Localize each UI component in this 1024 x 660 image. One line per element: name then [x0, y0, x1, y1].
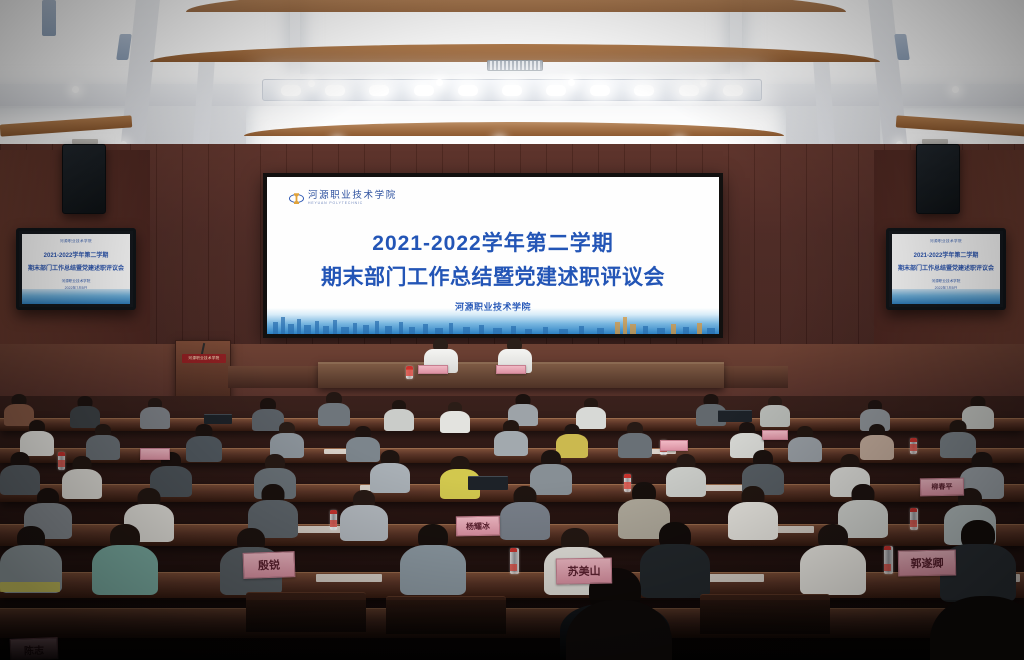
logo-chinese-name: 河源职业技术学院	[308, 191, 397, 201]
right-monitor-title1: 2021-2022学年第二学期	[914, 250, 979, 259]
attendee	[618, 422, 652, 456]
logo-english-name: HEYUAN POLYTECHNIC	[308, 202, 397, 205]
water-bottle	[884, 546, 893, 574]
placard-guo-ls: 郭遂卿	[898, 549, 956, 576]
placard-right-mid: 柳春平	[920, 478, 964, 497]
ceiling	[0, 0, 1024, 150]
left-monitor-org: 河源职业技术学院	[62, 279, 91, 284]
left-monitor-cityscape	[22, 289, 130, 304]
emblem-icon	[289, 192, 304, 204]
attendee	[92, 524, 158, 590]
attendee	[494, 420, 528, 454]
institution-logo: 河源职业技术学院 HEYUAN POLYTECHNIC	[289, 191, 397, 205]
water-bottle	[330, 510, 337, 530]
left-monitor-title1: 2021-2022学年第二学期	[44, 250, 109, 259]
placard-distant-a	[140, 448, 170, 460]
attendee	[666, 454, 706, 494]
attendee	[0, 452, 40, 492]
attendee	[860, 424, 894, 458]
attendee	[440, 402, 470, 432]
water-bottle	[58, 452, 65, 470]
placard-distant-c	[762, 430, 788, 440]
conference-hall-photo: 河源职业技术学院 2021-2022学年第二学期 期末部门工作总结暨党建述职评议…	[0, 0, 1024, 660]
attendee	[370, 450, 410, 490]
slide-title-line2: 期末部门工作总结暨党建述职评议会	[267, 261, 719, 291]
attendee	[70, 396, 100, 426]
right-monitor-title2: 期末部门工作总结暨党建述职评议会	[898, 263, 994, 272]
placard-yang-lb: 杨耀冰	[456, 516, 500, 537]
attendee	[20, 420, 54, 454]
attendee	[340, 490, 388, 538]
left-display-monitor[interactable]: 河源职业技术学院 2021-2022学年第二学期 期末部门工作总结暨党建述职评议…	[16, 228, 136, 310]
attendee	[760, 396, 790, 426]
attendee	[500, 486, 550, 536]
head-table-placard-left	[418, 365, 448, 374]
attendee	[86, 424, 120, 458]
attendee	[788, 426, 822, 460]
attendee	[800, 524, 866, 590]
placard-su-mx: 苏美山	[556, 558, 612, 585]
right-monitor-org: 河源职业技术学院	[932, 279, 961, 284]
laptop	[204, 414, 232, 424]
slide-cityscape-graphic	[267, 308, 719, 334]
ceiling-light-bar	[262, 79, 762, 101]
slide-title-line1: 2021-2022学年第二学期	[267, 227, 719, 257]
podium-sign: 河源职业技术学院	[182, 354, 226, 363]
right-monitor-cityscape	[892, 289, 1000, 304]
laptop	[718, 410, 752, 422]
right-display-monitor[interactable]: 河源职业技术学院 2021-2022学年第二学期 期末部门工作总结暨党建述职评议…	[886, 228, 1006, 310]
attendee	[270, 422, 304, 456]
slide-surface: 河源职业技术学院 HEYUAN POLYTECHNIC 2021-2022学年第…	[267, 177, 719, 334]
attendee	[248, 484, 298, 534]
attendee	[318, 392, 350, 424]
water-bottle	[510, 548, 519, 574]
left-monitor-logo: 河源职业技术学院	[60, 239, 92, 244]
placard-yin-rui: 殷锐	[243, 551, 296, 579]
attendee	[728, 486, 778, 536]
left-monitor-title2: 期末部门工作总结暨党建述职评议会	[28, 263, 124, 272]
right-speaker	[916, 144, 960, 214]
attendee	[384, 400, 414, 430]
podium[interactable]: 河源职业技术学院	[175, 340, 231, 402]
right-monitor-logo: 河源职业技术学院	[930, 239, 962, 244]
water-bottle	[910, 508, 918, 530]
foreground-shadow	[0, 600, 1024, 660]
main-projection-screen[interactable]: 河源职业技术学院 HEYUAN POLYTECHNIC 2021-2022学年第…	[263, 173, 723, 338]
head-table-placard-right	[496, 365, 526, 374]
air-vent-icon	[487, 60, 543, 71]
water-bottle	[406, 366, 413, 379]
left-speaker	[62, 144, 106, 214]
attendee	[940, 420, 976, 456]
attendee	[140, 398, 170, 428]
placard-distant-b	[660, 440, 688, 451]
attendee	[0, 526, 62, 588]
water-bottle	[910, 438, 917, 454]
